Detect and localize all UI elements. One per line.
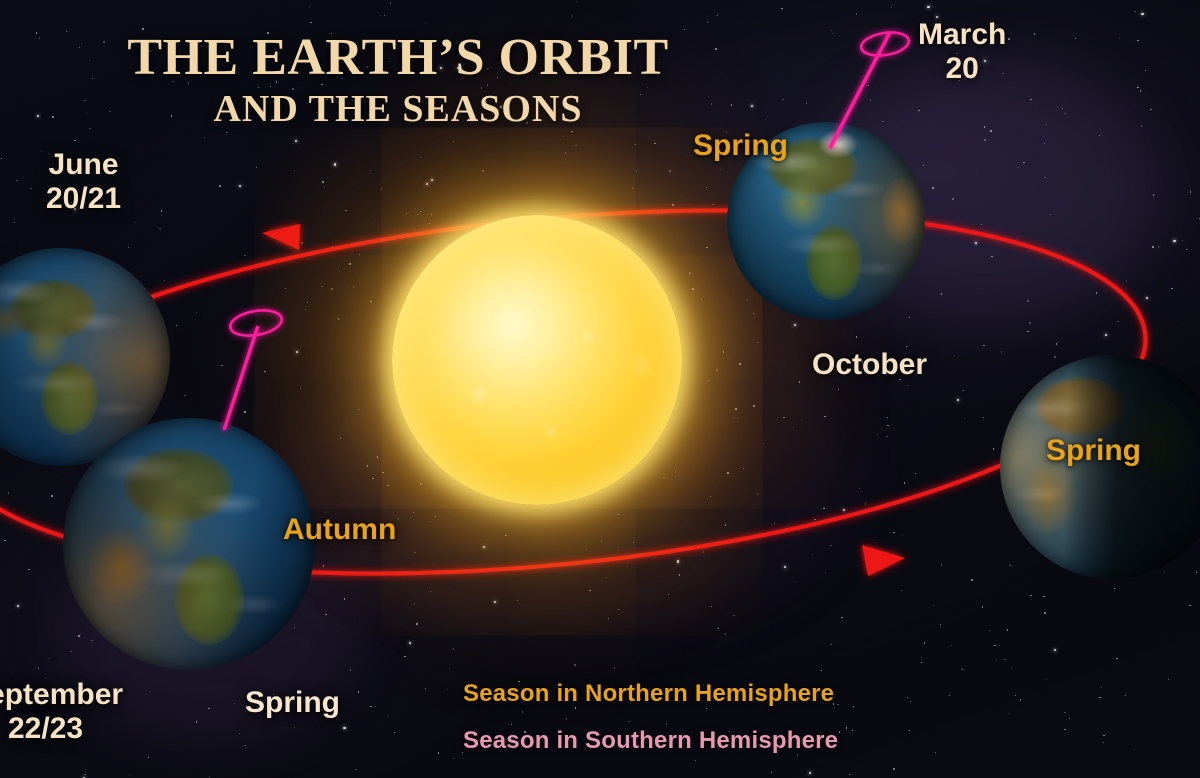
earth-atmosphere [63, 418, 315, 670]
title-line-2: AND THE SEASONS [78, 90, 718, 128]
label-september-date: September 22/23 [0, 678, 123, 745]
sun [392, 215, 682, 505]
page-title: THE EARTH’S ORBIT AND THE SEASONS [78, 32, 718, 128]
label-october-date: October [812, 348, 927, 382]
legend-southern-hemisphere: Season in Southern Hemisphere [463, 727, 838, 755]
legend-northern-hemisphere: Season in Northern Hemisphere [463, 680, 834, 708]
orbit-arrow-top [262, 224, 300, 250]
label-autumn-season: Autumn [283, 513, 396, 547]
label-june-date: June 20/21 [46, 148, 121, 215]
sun-limb-glow [392, 215, 682, 505]
label-spring-right: Spring [1046, 434, 1141, 468]
label-march-date: March 20 [918, 18, 1006, 85]
earth-september [63, 418, 315, 670]
label-spring-bottom: Spring [245, 686, 340, 720]
label-march-season: Spring [693, 129, 788, 163]
axis-indicator-september [224, 307, 284, 430]
title-line-1: THE EARTH’S ORBIT [78, 32, 718, 84]
earth-orbit-diagram: THE EARTH’S ORBIT AND THE SEASONS June 2… [0, 0, 1200, 778]
orbit-arrow-bottom [862, 545, 905, 576]
